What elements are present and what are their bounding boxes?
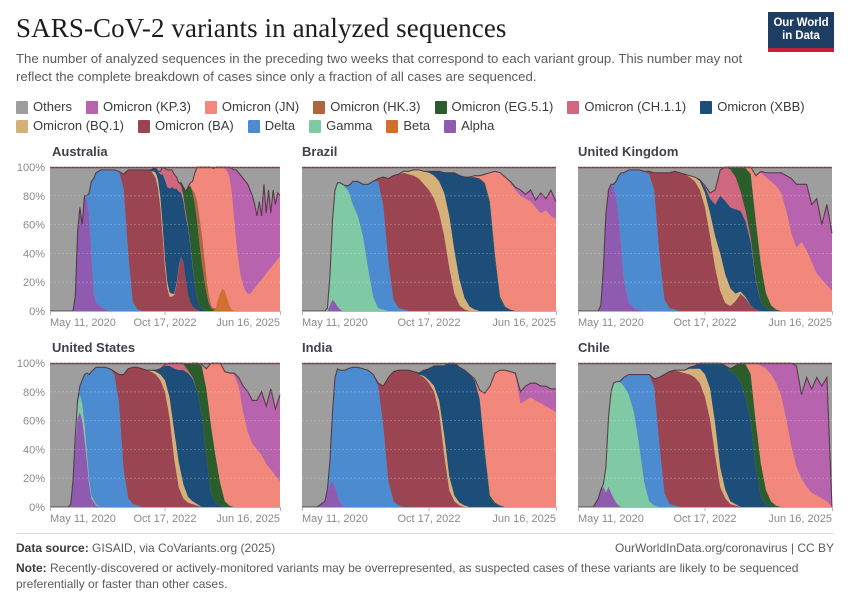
legend-swatch-icon — [205, 101, 217, 114]
y-axis-tick-label: 0% — [29, 306, 45, 318]
legend-item[interactable]: Beta — [386, 118, 430, 134]
legend-item[interactable]: Omicron (KP.3) — [86, 99, 191, 115]
legend-label: Delta — [265, 118, 295, 134]
x-axis-tick-label: May 11, 2020 — [578, 317, 644, 329]
legend-swatch-icon — [309, 120, 321, 133]
data-source-label: Data source: — [16, 541, 89, 555]
chart-panel-united-states: United States0%20%40%60%80%100%May 11, 2… — [16, 340, 282, 530]
x-axis-tick-label: May 11, 2020 — [50, 317, 116, 329]
chart-subtitle: The number of analyzed sequences in the … — [16, 50, 751, 85]
y-axis-tick-label: 0% — [29, 502, 45, 514]
legend-label: Beta — [403, 118, 430, 134]
y-axis-tick-label: 100% — [17, 163, 45, 174]
x-axis-tick-label: Oct 17, 2022 — [674, 317, 737, 329]
legend-swatch-icon — [444, 120, 456, 133]
legend-label: Omicron (BA) — [155, 118, 234, 134]
page-title: SARS-CoV-2 variants in analyzed sequence… — [16, 12, 834, 44]
legend-label: Omicron (JN) — [222, 99, 299, 115]
legend-label: Gamma — [326, 118, 372, 134]
legend-item[interactable]: Omicron (HK.3) — [313, 99, 420, 115]
chart-page: SARS-CoV-2 variants in analyzed sequence… — [0, 0, 850, 600]
panel-title: Brazil — [302, 144, 558, 160]
panel-title: United States — [52, 340, 282, 356]
chart-panel-chile: ChileMay 11, 2020Oct 17, 2022Jun 16, 202… — [568, 340, 834, 530]
y-axis-tick-label: 20% — [23, 277, 45, 289]
y-axis-tick-label: 100% — [17, 359, 45, 370]
panel-title: India — [302, 340, 558, 356]
x-axis-tick-label: Oct 17, 2022 — [674, 513, 737, 525]
legend-item[interactable]: Gamma — [309, 118, 372, 134]
legend-swatch-icon — [16, 101, 28, 114]
legend-label: Omicron (XBB) — [717, 99, 804, 115]
legend-label: Omicron (KP.3) — [103, 99, 191, 115]
legend-label: Others — [33, 99, 72, 115]
legend-item[interactable]: Omicron (EG.5.1) — [435, 99, 554, 115]
y-axis-tick-label: 20% — [23, 473, 45, 485]
legend-swatch-icon — [313, 101, 325, 114]
y-axis-tick-label: 40% — [23, 444, 45, 456]
legend-swatch-icon — [700, 101, 712, 114]
panel-grid: Australia0%20%40%60%80%100%May 11, 2020O… — [16, 144, 834, 530]
chart-panel-australia: Australia0%20%40%60%80%100%May 11, 2020O… — [16, 144, 282, 334]
legend-label: Omicron (BQ.1) — [33, 118, 124, 134]
legend-item[interactable]: Omicron (BQ.1) — [16, 118, 124, 134]
panel-plot[interactable]: May 11, 2020Oct 17, 2022Jun 16, 2025 — [292, 359, 558, 529]
legend-item[interactable]: Alpha — [444, 118, 494, 134]
legend-label: Omicron (EG.5.1) — [452, 99, 554, 115]
x-axis-tick-label: Jun 16, 2025 — [492, 317, 556, 329]
footer-note: Note: Recently-discovered or actively-mo… — [16, 561, 806, 592]
legend-swatch-icon — [248, 120, 260, 133]
owid-logo[interactable]: Our World in Data — [768, 12, 834, 52]
data-source-text: GISAID, via CoVariants.org (2025) — [89, 541, 276, 555]
y-axis-tick-label: 60% — [23, 220, 45, 232]
x-axis-tick-label: Jun 16, 2025 — [492, 513, 556, 525]
footer-divider — [16, 533, 834, 534]
legend-label: Omicron (CH.1.1) — [584, 99, 686, 115]
x-axis-tick-label: Oct 17, 2022 — [134, 513, 197, 525]
legend-swatch-icon — [138, 120, 150, 133]
legend-swatch-icon — [567, 101, 579, 114]
x-axis-tick-label: Jun 16, 2025 — [216, 513, 280, 525]
logo-line-2: in Data — [768, 30, 834, 43]
y-axis-tick-label: 80% — [23, 387, 45, 399]
legend-item[interactable]: Delta — [248, 118, 295, 134]
chart-panel-brazil: BrazilMay 11, 2020Oct 17, 2022Jun 16, 20… — [292, 144, 558, 334]
y-axis-tick-label: 60% — [23, 416, 45, 428]
chart-panel-india: IndiaMay 11, 2020Oct 17, 2022Jun 16, 202… — [292, 340, 558, 530]
x-axis-tick-label: Jun 16, 2025 — [768, 513, 832, 525]
x-axis-tick-label: May 11, 2020 — [302, 317, 368, 329]
legend-item[interactable]: Omicron (BA) — [138, 118, 234, 134]
data-source: Data source: GISAID, via CoVariants.org … — [16, 540, 275, 556]
panel-plot[interactable]: 0%20%40%60%80%100%May 11, 2020Oct 17, 20… — [16, 359, 282, 529]
legend-swatch-icon — [16, 120, 28, 133]
legend-label: Alpha — [461, 118, 494, 134]
legend-item[interactable]: Others — [16, 99, 72, 115]
x-axis-tick-label: Oct 17, 2022 — [398, 513, 461, 525]
chart-header: SARS-CoV-2 variants in analyzed sequence… — [16, 0, 834, 85]
legend-swatch-icon — [435, 101, 447, 114]
chart-legend: OthersOmicron (KP.3)Omicron (JN)Omicron … — [16, 99, 834, 134]
panel-plot[interactable]: May 11, 2020Oct 17, 2022Jun 16, 2025 — [292, 163, 558, 333]
note-text: Recently-discovered or actively-monitore… — [16, 561, 798, 591]
attribution-link[interactable]: OurWorldInData.org/coronavirus | CC BY — [615, 540, 834, 556]
x-axis-tick-label: Jun 16, 2025 — [768, 317, 832, 329]
x-axis-tick-label: May 11, 2020 — [578, 513, 644, 525]
x-axis-tick-label: Oct 17, 2022 — [134, 317, 197, 329]
legend-swatch-icon — [386, 120, 398, 133]
note-label: Note: — [16, 561, 47, 575]
legend-label: Omicron (HK.3) — [330, 99, 420, 115]
legend-swatch-icon — [86, 101, 98, 114]
panel-plot[interactable]: May 11, 2020Oct 17, 2022Jun 16, 2025 — [568, 163, 834, 333]
chart-footer: Data source: GISAID, via CoVariants.org … — [16, 533, 834, 592]
chart-panel-united-kingdom: United KingdomMay 11, 2020Oct 17, 2022Ju… — [568, 144, 834, 334]
logo-line-1: Our World — [768, 17, 834, 30]
panel-plot[interactable]: May 11, 2020Oct 17, 2022Jun 16, 2025 — [568, 359, 834, 529]
x-axis-tick-label: May 11, 2020 — [50, 513, 116, 525]
panel-title: Chile — [578, 340, 834, 356]
x-axis-tick-label: Jun 16, 2025 — [216, 317, 280, 329]
panel-plot[interactable]: 0%20%40%60%80%100%May 11, 2020Oct 17, 20… — [16, 163, 282, 333]
y-axis-tick-label: 80% — [23, 191, 45, 203]
x-axis-tick-label: May 11, 2020 — [302, 513, 368, 525]
legend-item[interactable]: Omicron (CH.1.1) — [567, 99, 686, 115]
x-axis-tick-label: Oct 17, 2022 — [398, 317, 461, 329]
y-axis-tick-label: 40% — [23, 248, 45, 260]
panel-title: United Kingdom — [578, 144, 834, 160]
legend-item[interactable]: Omicron (XBB) — [700, 99, 804, 115]
panel-title: Australia — [52, 144, 282, 160]
legend-item[interactable]: Omicron (JN) — [205, 99, 299, 115]
